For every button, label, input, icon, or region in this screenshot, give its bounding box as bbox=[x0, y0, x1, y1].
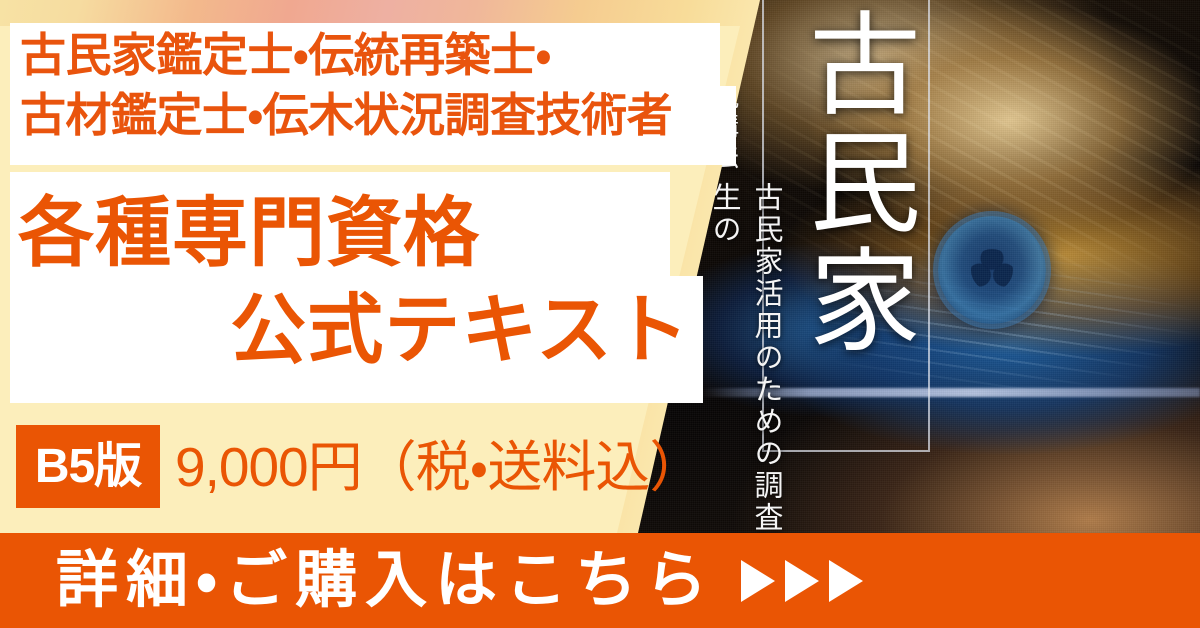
headline-line-1: 古民家鑑定士・伝統再築士・ bbox=[20, 26, 740, 86]
chevron-right-icon bbox=[829, 560, 863, 602]
cta-bar[interactable]: 詳細・ご購入はこちら bbox=[0, 533, 1200, 628]
promotional-banner: 伝統構法 古民家活用のための調査と再生の 古民家 古民家鑑定士・伝統再築士・ 古… bbox=[0, 0, 1200, 628]
main-title-line-1: 各種専門資格 bbox=[18, 191, 480, 276]
main-title: 各種専門資格 公式テキスト bbox=[18, 186, 708, 379]
cta-arrow-group bbox=[741, 560, 863, 602]
size-badge-label: B5版 bbox=[35, 443, 141, 491]
cta-label: 詳細・ご購入はこちら bbox=[56, 550, 715, 612]
size-badge: B5版 bbox=[16, 425, 160, 508]
book-cover-title: 古民家 bbox=[772, 6, 922, 360]
price-label: 9,000円（税・送料込） bbox=[175, 428, 703, 506]
chevron-right-icon bbox=[741, 560, 775, 602]
family-crest-medallion bbox=[938, 216, 1046, 324]
chevron-right-icon bbox=[785, 560, 819, 602]
headline-line-2: 古材鑑定士・伝木状況調査技術者 bbox=[20, 86, 740, 146]
main-title-line-2: 公式テキスト bbox=[18, 283, 708, 380]
qualification-headline: 古民家鑑定士・伝統再築士・ 古材鑑定士・伝木状況調査技術者 bbox=[20, 26, 740, 146]
